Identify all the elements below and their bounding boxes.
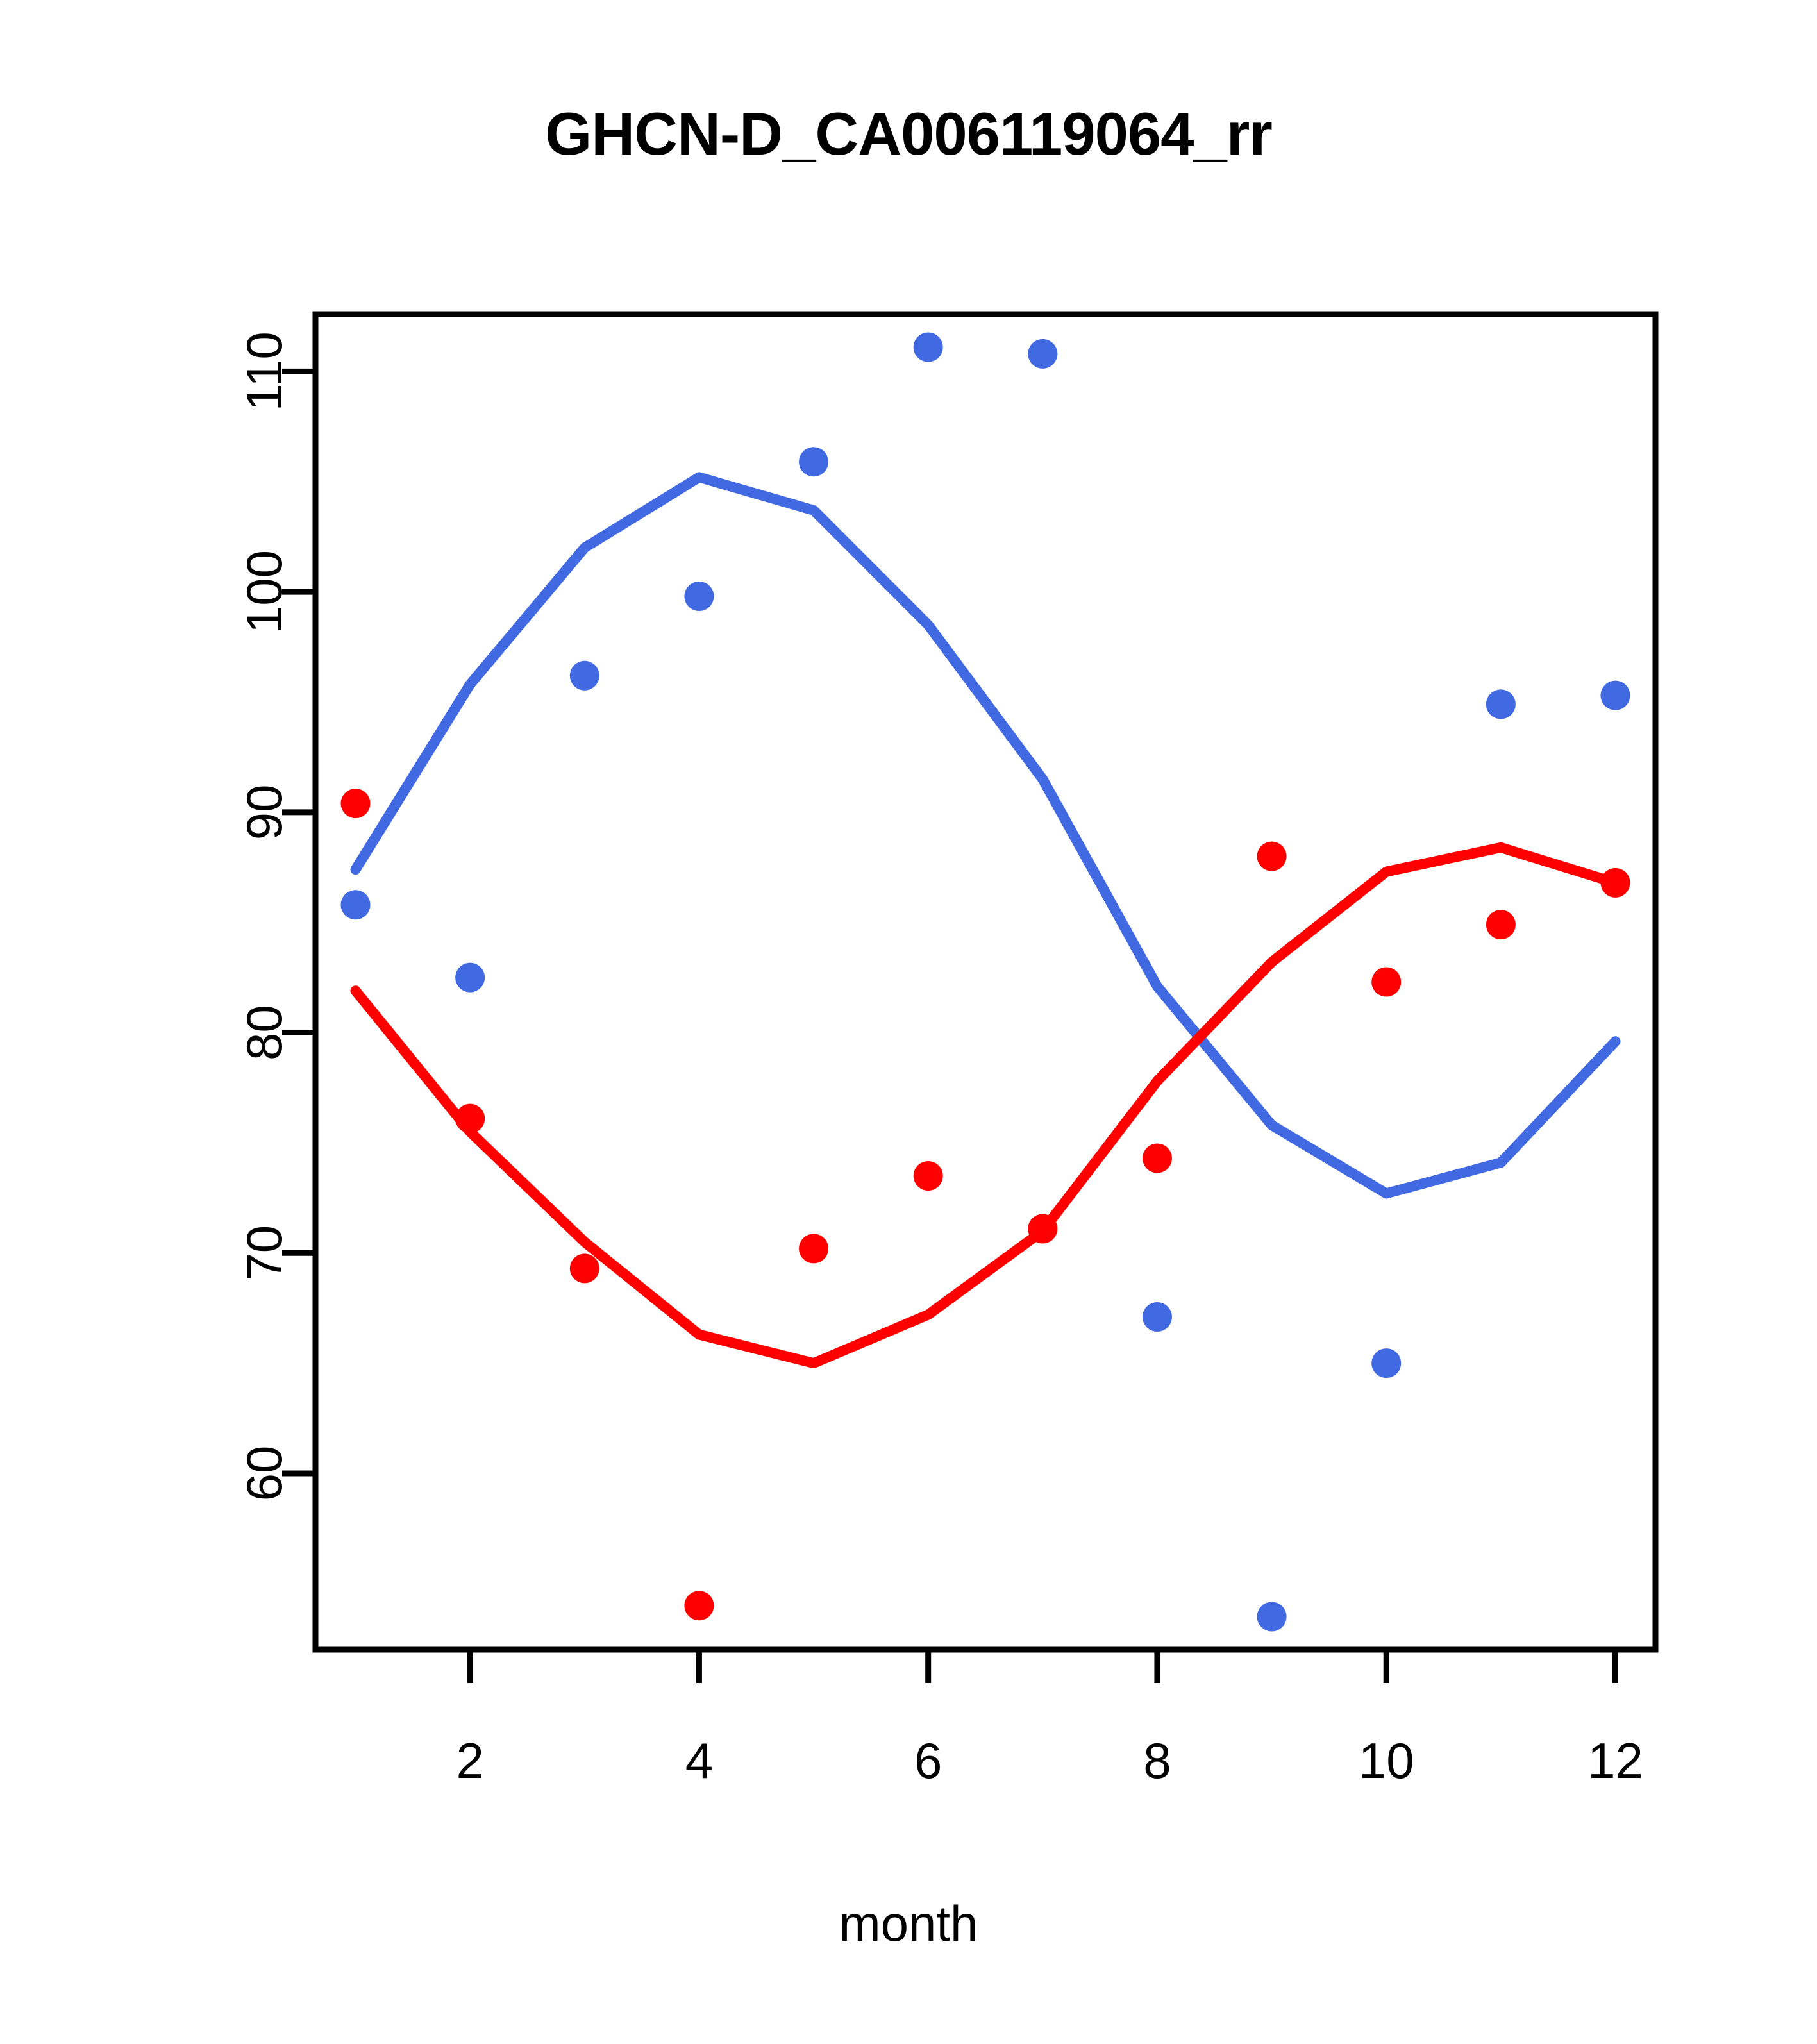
y-tick-label: 60	[236, 1446, 292, 1502]
data-point	[1600, 868, 1630, 898]
data-point	[1028, 1214, 1057, 1243]
data-point	[570, 1253, 599, 1283]
data-point	[1143, 1143, 1172, 1173]
data-point	[1600, 681, 1630, 710]
data-point	[341, 890, 371, 919]
y-tick-label: 100	[236, 550, 292, 633]
series-lines	[356, 477, 1616, 1363]
x-tick-label: 6	[914, 1732, 942, 1789]
x-axis-ticks	[470, 1650, 1615, 1683]
x-tick-label: 10	[1359, 1732, 1414, 1789]
y-axis-ticks	[282, 371, 315, 1473]
x-tick-label: 8	[1143, 1732, 1171, 1789]
data-point	[570, 661, 599, 691]
data-point	[1486, 689, 1516, 719]
data-point	[341, 789, 371, 818]
y-tick-label: 110	[236, 331, 292, 411]
data-point	[684, 582, 714, 611]
series-line-red-line	[356, 848, 1616, 1363]
data-point	[1371, 968, 1401, 997]
y-tick-label: 80	[236, 1005, 292, 1060]
data-point	[1486, 910, 1516, 939]
series-points	[341, 333, 1630, 1632]
data-point	[455, 1104, 485, 1134]
x-tick-label: 12	[1587, 1732, 1643, 1789]
data-point	[914, 1161, 943, 1191]
x-tick-label: 4	[685, 1732, 713, 1789]
x-axis-tick-labels: 24681012	[456, 1732, 1643, 1789]
plot-box	[315, 314, 1655, 1650]
data-point	[1371, 1348, 1401, 1378]
data-point	[455, 963, 485, 993]
data-point	[914, 333, 943, 362]
data-point	[1143, 1302, 1172, 1332]
y-tick-label: 90	[236, 784, 292, 840]
data-point	[799, 1234, 828, 1263]
data-point	[1257, 842, 1287, 871]
chart-container: GHCN-D_CA006119064_rr 60708090100110 246…	[0, 0, 1817, 2044]
x-axis-label: month	[0, 1895, 1817, 1953]
plot-frame	[315, 314, 1655, 1650]
data-point	[684, 1591, 714, 1620]
y-tick-label: 70	[236, 1225, 292, 1281]
series-line-blue-line	[356, 477, 1616, 1193]
x-tick-label: 2	[456, 1732, 483, 1789]
chart-canvas: 60708090100110 24681012	[0, 0, 1817, 2044]
y-axis-tick-labels: 60708090100110	[236, 331, 292, 1501]
data-point	[1028, 339, 1057, 369]
data-point	[799, 447, 828, 476]
data-point	[1257, 1602, 1287, 1631]
